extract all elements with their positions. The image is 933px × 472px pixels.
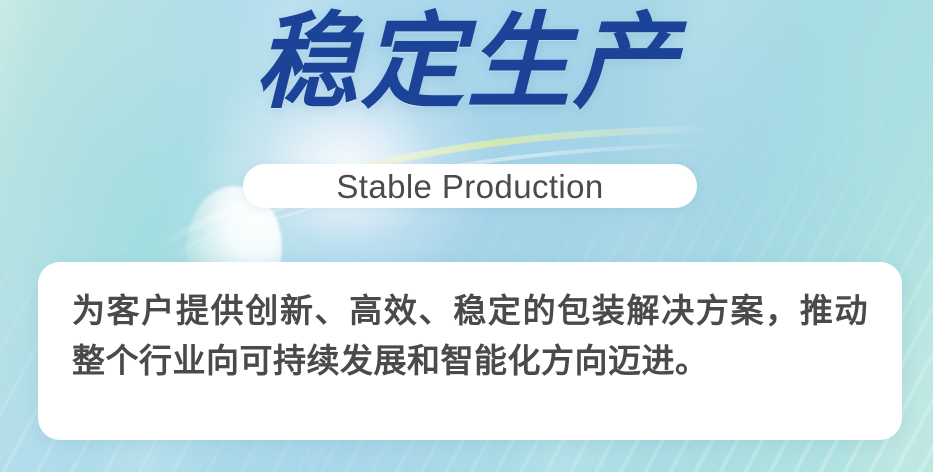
subtitle-pill: Stable Production <box>243 164 697 208</box>
subtitle-label: Stable Production <box>336 170 603 203</box>
page-title: 稳定生产 <box>0 0 933 130</box>
description-card: 为客户提供创新、高效、稳定的包装解决方案，推动整个行业向可持续发展和智能化方向迈… <box>38 262 902 440</box>
stable-production-banner: 稳定生产 Stable Production 为客户提供创新、高效、稳定的包装解… <box>0 0 933 472</box>
description-text: 为客户提供创新、高效、稳定的包装解决方案，推动整个行业向可持续发展和智能化方向迈… <box>72 286 868 386</box>
